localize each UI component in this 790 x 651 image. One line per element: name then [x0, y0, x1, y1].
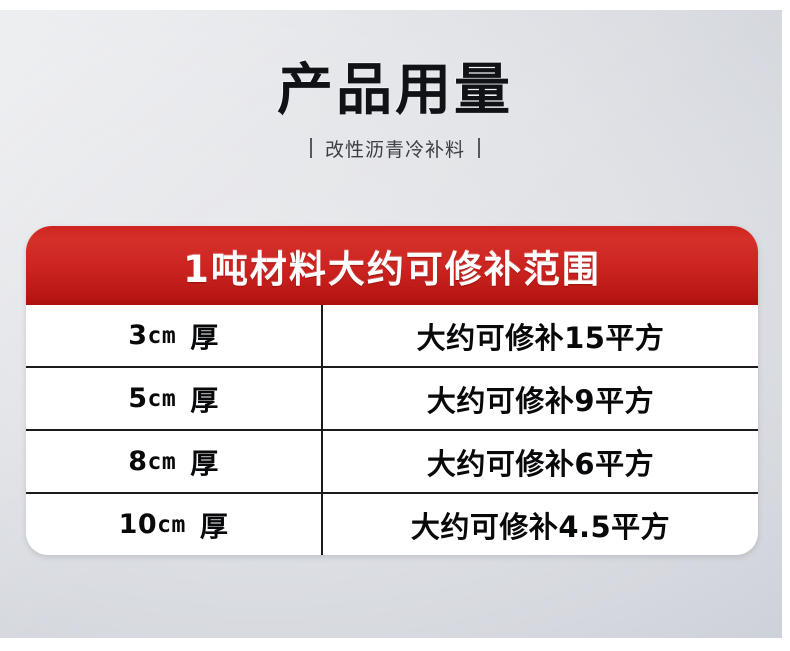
- thickness-value: 10: [119, 509, 158, 540]
- coverage-cell: 大约可修补15平方: [323, 305, 758, 366]
- usage-table: 3cm厚 大约可修补15平方 5cm厚 大约可修补9平方 8cm厚 大约可修补6…: [26, 305, 758, 555]
- subtitle-row: 改性沥青冷补料: [0, 135, 790, 162]
- thickness-cell: 8cm厚: [26, 431, 323, 492]
- product-usage-infographic: 产品用量 改性沥青冷补料 1吨材料大约可修补范围 3cm厚 大约可修补15平方 …: [0, 0, 790, 651]
- table-row: 3cm厚 大约可修补15平方: [26, 305, 758, 368]
- table-banner: 1吨材料大约可修补范围: [26, 226, 758, 305]
- thickness-cell: 3cm厚: [26, 305, 323, 366]
- thickness-suffix: 厚: [200, 505, 229, 545]
- table-row: 5cm厚 大约可修补9平方: [26, 368, 758, 431]
- thickness-suffix: 厚: [190, 379, 219, 419]
- thickness-unit: cm: [148, 449, 177, 475]
- thickness-suffix: 厚: [190, 316, 219, 356]
- thickness-value: 8: [128, 446, 147, 477]
- thickness-suffix: 厚: [190, 442, 219, 482]
- thickness-value: 3: [128, 320, 147, 351]
- thickness-unit: cm: [148, 323, 177, 349]
- coverage-cell: 大约可修补4.5平方: [323, 494, 758, 555]
- thickness-cell: 5cm厚: [26, 368, 323, 429]
- separator-bar-right: [478, 138, 480, 158]
- usage-table-card: 1吨材料大约可修补范围 3cm厚 大约可修补15平方 5cm厚 大约可修补9平方…: [26, 226, 758, 555]
- heading-block: 产品用量 改性沥青冷补料: [0, 62, 790, 162]
- separator-bar-left: [310, 138, 312, 158]
- table-row: 8cm厚 大约可修补6平方: [26, 431, 758, 494]
- table-row: 10cm厚 大约可修补4.5平方: [26, 494, 758, 555]
- thickness-value: 5: [128, 383, 147, 414]
- coverage-cell: 大约可修补9平方: [323, 368, 758, 429]
- thickness-unit: cm: [148, 386, 177, 412]
- coverage-cell: 大约可修补6平方: [323, 431, 758, 492]
- thickness-cell: 10cm厚: [26, 494, 323, 555]
- table-banner-title: 1吨材料大约可修补范围: [183, 239, 601, 293]
- page-title: 产品用量: [0, 62, 790, 121]
- page-subtitle: 改性沥青冷补料: [325, 135, 465, 162]
- thickness-unit: cm: [157, 512, 186, 538]
